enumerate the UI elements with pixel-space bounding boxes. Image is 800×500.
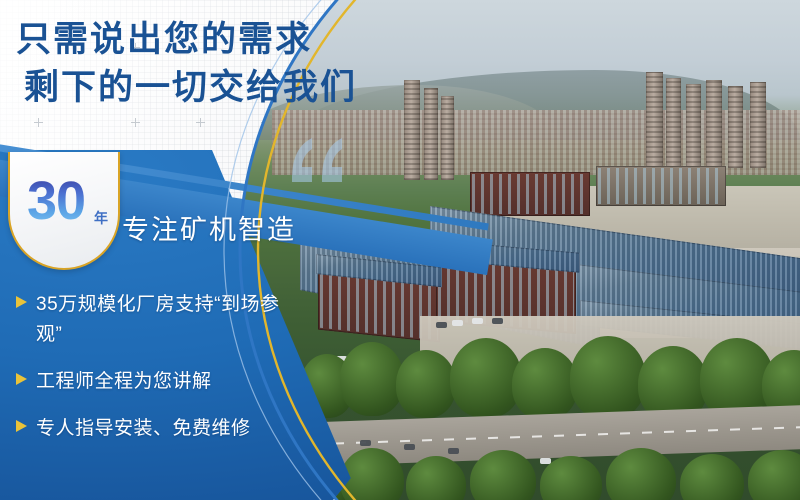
headline: 只需说出您的需求 剩下的一切交给我们 xyxy=(16,16,416,113)
arrow-triangle-icon xyxy=(16,296,27,308)
headline-line-1: 只需说出您的需求 xyxy=(16,16,416,64)
list-item-label: 35万规模化厂房支持“到场参观” xyxy=(36,290,280,350)
badge-number: 30 xyxy=(8,174,104,228)
headline-line-2: 剩下的一切交给我们 xyxy=(16,64,416,112)
list-item: 工程师全程为您讲解 xyxy=(14,367,314,397)
feature-list: 35万规模化厂房支持“到场参观” 工程师全程为您讲解 专人指导安装、免费维修 xyxy=(14,290,314,461)
arrow-triangle-icon xyxy=(16,373,27,385)
years-badge: 30 年 xyxy=(8,152,120,270)
list-item-label: 工程师全程为您讲解 xyxy=(36,367,212,397)
slogan-text: 专注矿机智造 xyxy=(122,208,296,247)
list-item: 专人指导安装、免费维修 xyxy=(14,414,314,444)
list-item-label: 专人指导安装、免费维修 xyxy=(36,414,251,444)
quote-mark-icon xyxy=(288,136,346,182)
list-item: 35万规模化厂房支持“到场参观” xyxy=(14,290,314,350)
arrow-triangle-icon xyxy=(16,420,27,432)
promo-banner: 只需说出您的需求 剩下的一切交给我们 30 年 专注矿机智造 35万规模化厂房支… xyxy=(0,0,800,500)
badge-unit-label: 年 xyxy=(94,208,108,228)
